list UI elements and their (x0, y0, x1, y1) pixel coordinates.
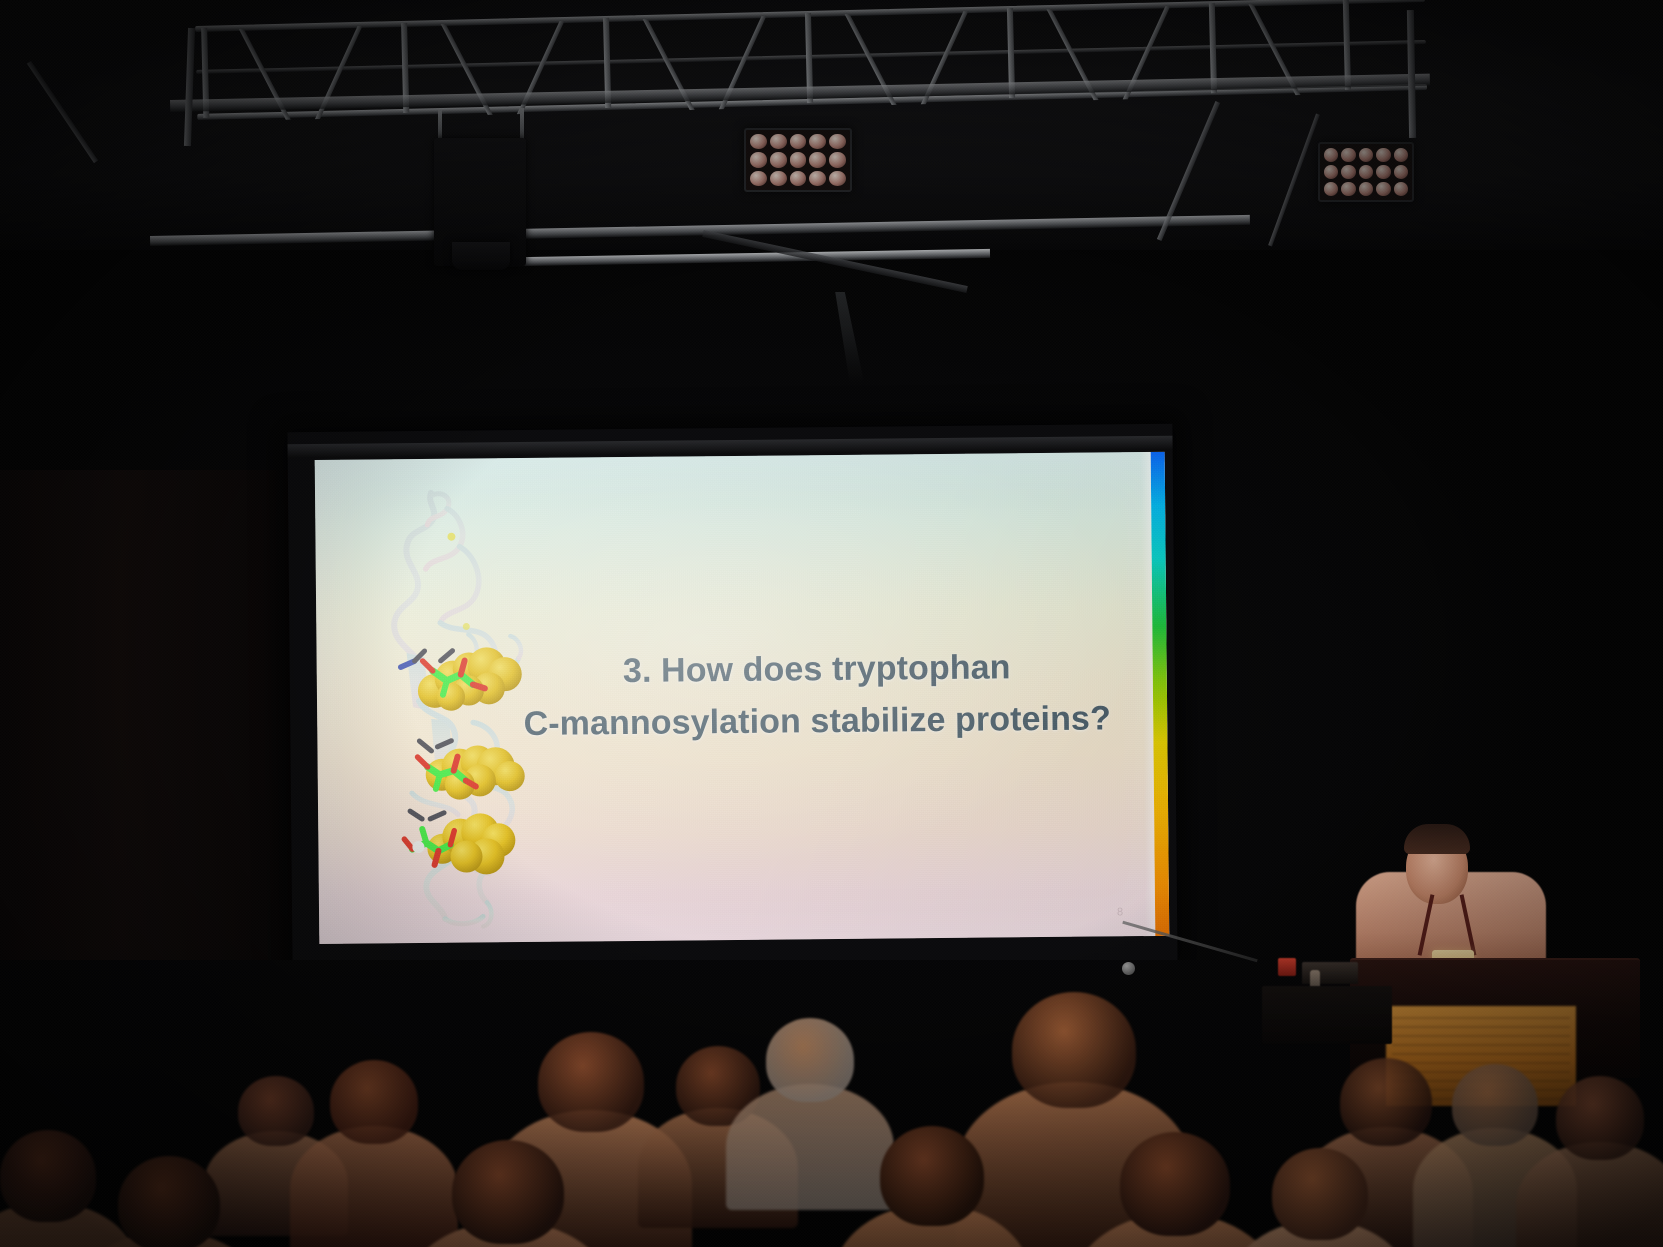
stage-curtain-left (0, 470, 300, 1030)
led-panel-light-left (744, 128, 852, 192)
audience-member-shoulders (726, 1084, 893, 1210)
red-cup (1278, 958, 1296, 976)
projection-screen: 3. How does tryptophan C-mannosylation s… (287, 424, 1177, 972)
audience-member-head (238, 1076, 314, 1146)
audience-member-head (1340, 1058, 1432, 1146)
microphone-head (1122, 962, 1135, 975)
audience-member-head (0, 1130, 96, 1222)
audience (0, 980, 1663, 1247)
audience-member-head (1272, 1148, 1368, 1240)
audience-member-head (452, 1140, 564, 1244)
slide-number: 8 (1117, 906, 1123, 918)
led-panel-light-right (1318, 142, 1414, 202)
audience-member-head (330, 1060, 418, 1144)
hanging-spotlight-yoke (452, 242, 510, 270)
audience-member-head (1012, 992, 1136, 1108)
audience-member-head (1452, 1064, 1538, 1146)
presentation-slide: 3. How does tryptophan C-mannosylation s… (315, 452, 1170, 944)
conference-photo: 3. How does tryptophan C-mannosylation s… (0, 0, 1663, 1247)
slide-heading-line-1: 3. How does tryptophan (467, 642, 1167, 697)
audience-member-head (1556, 1076, 1644, 1160)
audience-member-head (1120, 1132, 1230, 1236)
audience-member-head (766, 1018, 854, 1102)
audience-member-head (538, 1032, 644, 1132)
audience-member-head (118, 1156, 220, 1247)
presenter-hair (1404, 824, 1470, 854)
slide-heading-line-2: C-mannosylation stabilize proteins? (467, 694, 1167, 749)
slide-heading: 3. How does tryptophan C-mannosylation s… (467, 642, 1168, 749)
audience-member-head (880, 1126, 984, 1226)
